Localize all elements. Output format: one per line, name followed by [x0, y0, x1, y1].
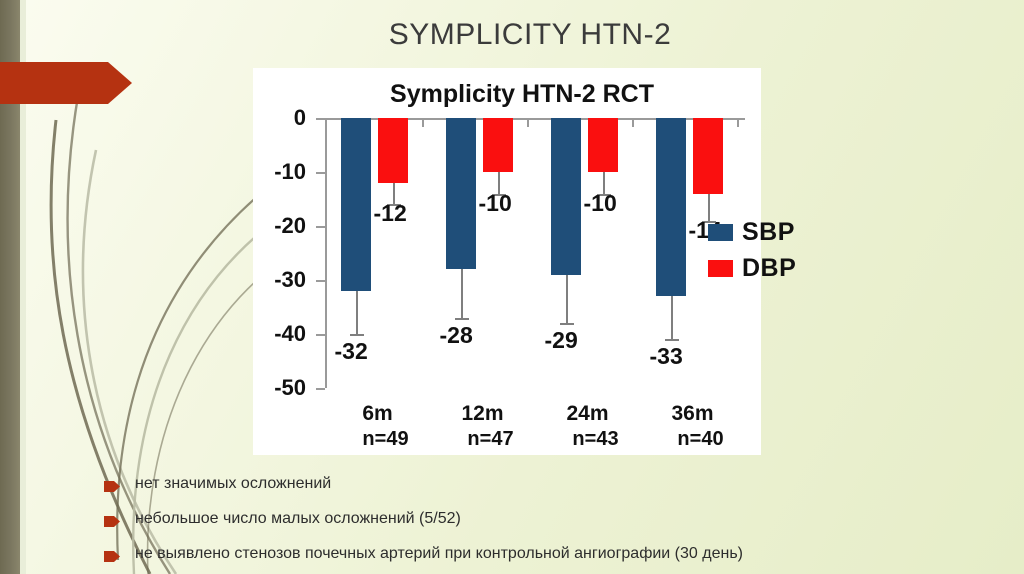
y-axis-tick-label: 0: [294, 105, 306, 131]
x-axis-tick: [737, 118, 739, 127]
error-bar-cap: [665, 339, 679, 341]
bar-sbp-6m: [341, 118, 371, 291]
error-bar: [461, 269, 463, 318]
y-axis-tick-label: -20: [274, 213, 306, 239]
y-axis-tick-label: -40: [274, 321, 306, 347]
list-item: нет значимых осложнений: [104, 468, 1004, 500]
legend-label-dbp: DBP: [742, 254, 796, 283]
x-axis-sample-size-label: n=49: [346, 428, 426, 451]
bar-sbp-24m: [551, 118, 581, 275]
x-axis-sample-size-label: n=40: [661, 428, 741, 451]
y-axis-tick-label: -30: [274, 267, 306, 293]
y-axis-tick-label: -10: [274, 159, 306, 185]
x-axis-sample-size-label: n=43: [556, 428, 636, 451]
bar-value-label: -28: [440, 322, 473, 349]
bar-value-label: -10: [584, 190, 617, 217]
page-title: SYMPLICITY HTN-2: [130, 18, 930, 52]
bullet-list: нет значимых осложненийнебольшое число м…: [104, 468, 1004, 573]
arrow-bullet-icon: [104, 514, 120, 525]
y-axis-tick: 0: [316, 118, 325, 120]
error-bar-cap: [560, 323, 574, 325]
bar-value-label: -33: [650, 343, 683, 370]
y-axis-tick: -50: [316, 388, 325, 390]
x-axis-category-label: 24m: [548, 402, 628, 426]
error-bar-cap: [350, 334, 364, 336]
x-axis-tick: [632, 118, 634, 127]
bar-dbp-36m: [693, 118, 723, 194]
accent-arrow-banner: [0, 62, 132, 104]
y-axis-tick: -30: [316, 280, 325, 282]
bar-value-label: -10: [479, 190, 512, 217]
y-axis-line: [325, 118, 327, 388]
slide-canvas: SYMPLICITY HTN-2 Symplicity HTN-2 RCT 0-…: [0, 0, 1024, 574]
chart-plot-area: 0-10-20-30-40-50-32-126mn=49-28-1012mn=4…: [325, 118, 745, 388]
y-axis-tick: -20: [316, 226, 325, 228]
legend-item-sbp: SBP: [708, 218, 796, 247]
list-item-label: не выявлено стенозов почечных артерий пр…: [135, 545, 743, 563]
legend-item-dbp: DBP: [708, 254, 796, 283]
x-axis-category-label: 6m: [338, 402, 418, 426]
error-bar: [671, 296, 673, 339]
list-item: небольшое число малых осложнений (5/52): [104, 503, 1004, 535]
bar-value-label: -32: [335, 338, 368, 365]
y-axis-tick-label: -50: [274, 375, 306, 401]
legend-swatch-dbp-icon: [708, 260, 733, 277]
legend-label-sbp: SBP: [742, 218, 795, 247]
error-bar: [566, 275, 568, 324]
legend-swatch-sbp-icon: [708, 224, 733, 241]
list-item-label: нет значимых осложнений: [135, 475, 331, 493]
bar-value-label: -29: [545, 327, 578, 354]
bar-dbp-6m: [378, 118, 408, 183]
y-axis-tick: -40: [316, 334, 325, 336]
x-axis-tick: [527, 118, 529, 127]
list-item: не выявлено стенозов почечных артерий пр…: [104, 538, 1004, 570]
x-axis-category-label: 36m: [653, 402, 733, 426]
y-axis-tick: -10: [316, 172, 325, 174]
chart-title: Symplicity HTN-2 RCT: [253, 80, 761, 109]
error-bar: [356, 291, 358, 334]
chart-legend: SBP DBP: [708, 218, 796, 290]
bar-sbp-36m: [656, 118, 686, 296]
x-axis-sample-size-label: n=47: [451, 428, 531, 451]
arrow-bullet-icon: [104, 479, 120, 490]
bar-value-label: -12: [374, 200, 407, 227]
x-axis-category-label: 12m: [443, 402, 523, 426]
list-item-label: небольшое число малых осложнений (5/52): [135, 510, 461, 528]
chart-panel: Symplicity HTN-2 RCT 0-10-20-30-40-50-32…: [253, 68, 761, 455]
bar-dbp-24m: [588, 118, 618, 172]
x-axis-tick: [422, 118, 424, 127]
bar-dbp-12m: [483, 118, 513, 172]
arrow-bullet-icon: [104, 549, 120, 560]
error-bar-cap: [455, 318, 469, 320]
bar-sbp-12m: [446, 118, 476, 269]
